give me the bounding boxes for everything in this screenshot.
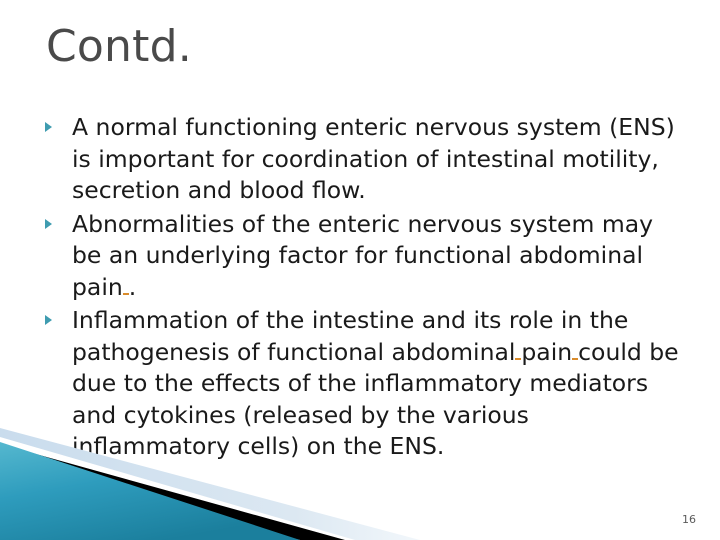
page-title: Contd. xyxy=(46,22,666,73)
list-item: Inflammation of the intestine and its ro… xyxy=(40,305,688,463)
bullet-text-part: pain xyxy=(521,338,572,366)
bullet-text-part: Abnormalities of the enteric nervous sys… xyxy=(72,210,653,301)
bullet-text-part: . xyxy=(129,273,136,301)
triangle-right-icon xyxy=(45,122,52,132)
title-placeholder: Contd. xyxy=(46,22,666,92)
bullet-text: Abnormalities of the enteric nervous sys… xyxy=(72,209,688,304)
bullet-text: A normal functioning enteric nervous sys… xyxy=(72,112,688,207)
bullet-text: Inflammation of the intestine and its ro… xyxy=(72,305,688,463)
page-number: 16 xyxy=(682,513,696,526)
triangle-right-icon xyxy=(45,219,52,229)
triangle-right-icon xyxy=(45,315,52,325)
slide-canvas: Contd. A normal functioning enteric nerv… xyxy=(0,0,720,540)
list-item: Abnormalities of the enteric nervous sys… xyxy=(40,209,688,304)
content-placeholder: A normal functioning enteric nervous sys… xyxy=(40,112,688,465)
list-item: A normal functioning enteric nervous sys… xyxy=(40,112,688,207)
